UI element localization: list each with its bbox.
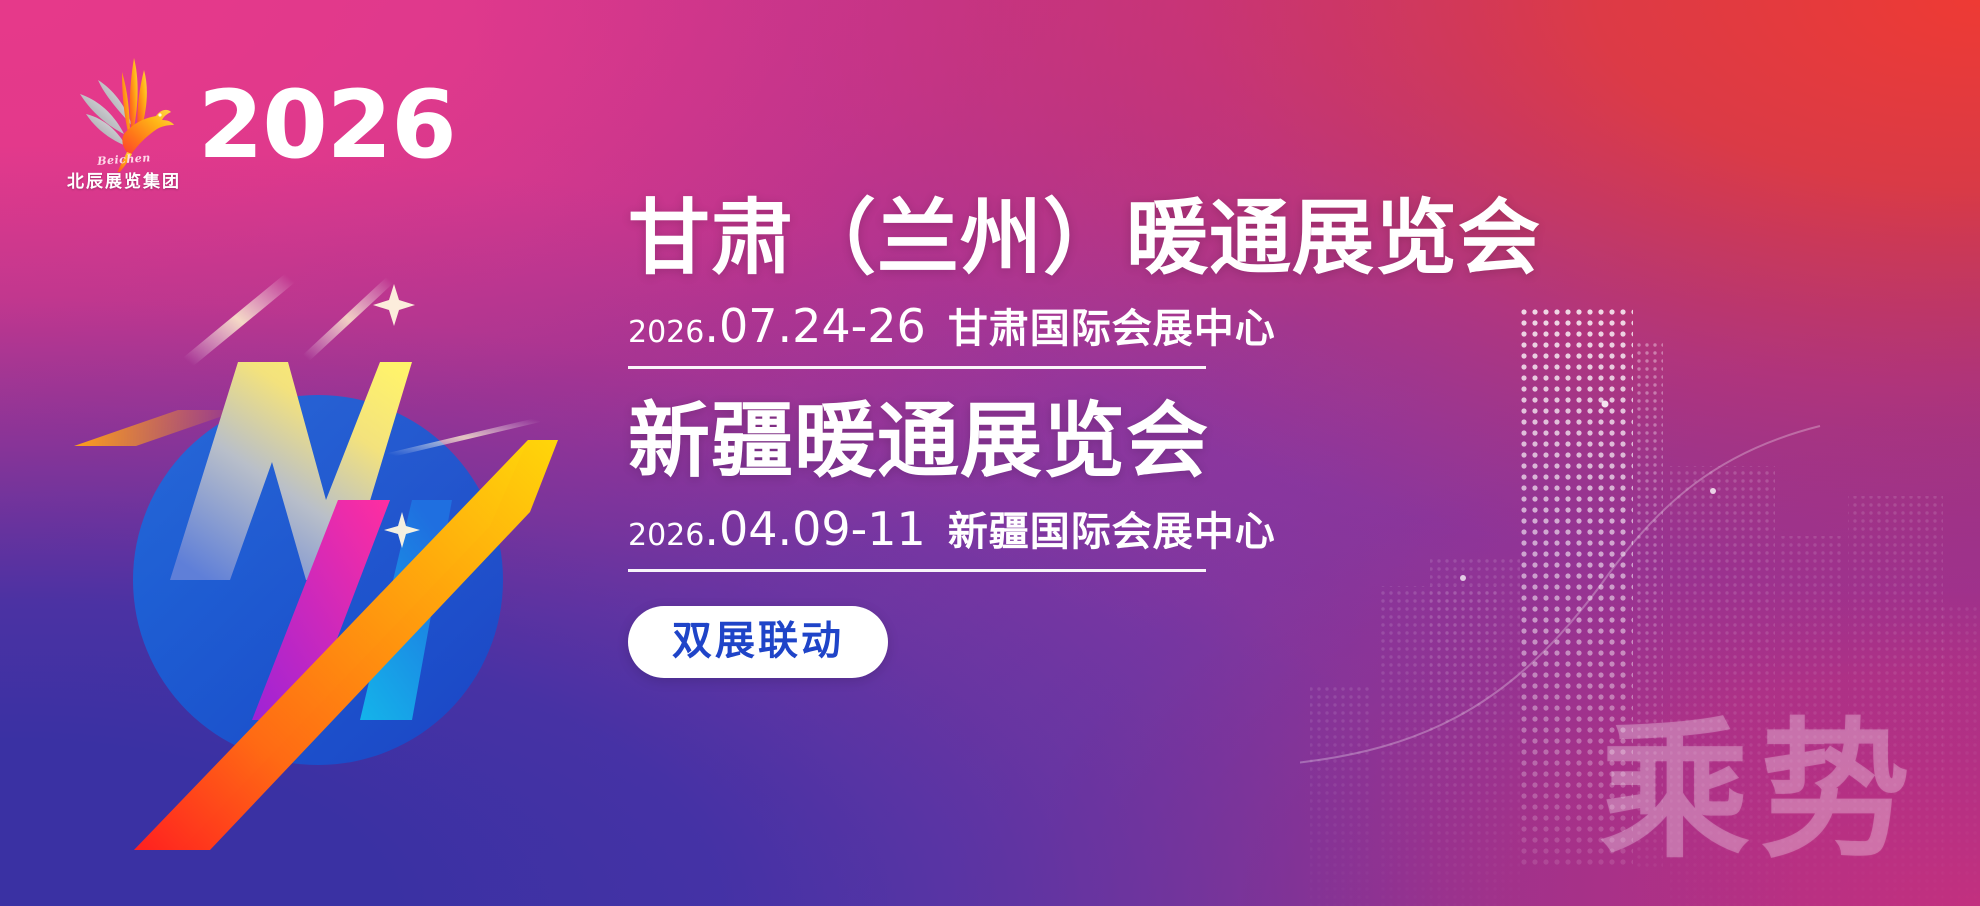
event-venue-xinjiang: 新疆国际会展中心: [948, 499, 1276, 557]
event-date-rest-xinjiang: .04.09-11: [704, 502, 925, 556]
event-venue-gansu: 甘肃国际会展中心: [948, 296, 1276, 354]
phoenix-bird-logo: Beichen 北辰展览集团: [72, 52, 176, 188]
event-subline-gansu: 2026.07.24-26 甘肃国际会展中心: [628, 296, 1388, 354]
divider-gansu: [628, 366, 1206, 369]
event-date-rest-gansu: .07.24-26: [704, 299, 925, 353]
exhibition-banner: 乘势: [0, 0, 1980, 906]
calligraphy-watermark: 乘势: [1600, 716, 1920, 866]
event-date-year-xinjiang: 2026: [628, 518, 704, 553]
event-title-xinjiang: 新疆暖通展览会: [628, 399, 1388, 485]
event-date-gansu: 2026.07.24-26: [628, 299, 926, 353]
event-date-xinjiang: 2026.04.09-11: [628, 502, 926, 556]
divider-xinjiang: [628, 569, 1206, 572]
logo-chinese-name: 北辰展览集团: [67, 167, 181, 192]
event-content: 甘肃（兰州）暖通展览会 2026.07.24-26 甘肃国际会展中心 新疆暖通展…: [628, 196, 1388, 678]
event-subline-xinjiang: 2026.04.09-11 新疆国际会展中心: [628, 499, 1388, 557]
event-title-gansu: 甘肃（兰州）暖通展览会: [628, 196, 1388, 282]
brand-logo-block: Beichen 北辰展览集团 2026: [72, 52, 456, 188]
dual-exhibition-button[interactable]: 双展联动: [628, 606, 888, 678]
abstract-nm-arrow-graphic: [60, 250, 600, 870]
year-label: 2026: [198, 79, 456, 173]
event-date-year-gansu: 2026: [628, 315, 704, 350]
cta-wrapper: 双展联动: [628, 606, 1388, 678]
